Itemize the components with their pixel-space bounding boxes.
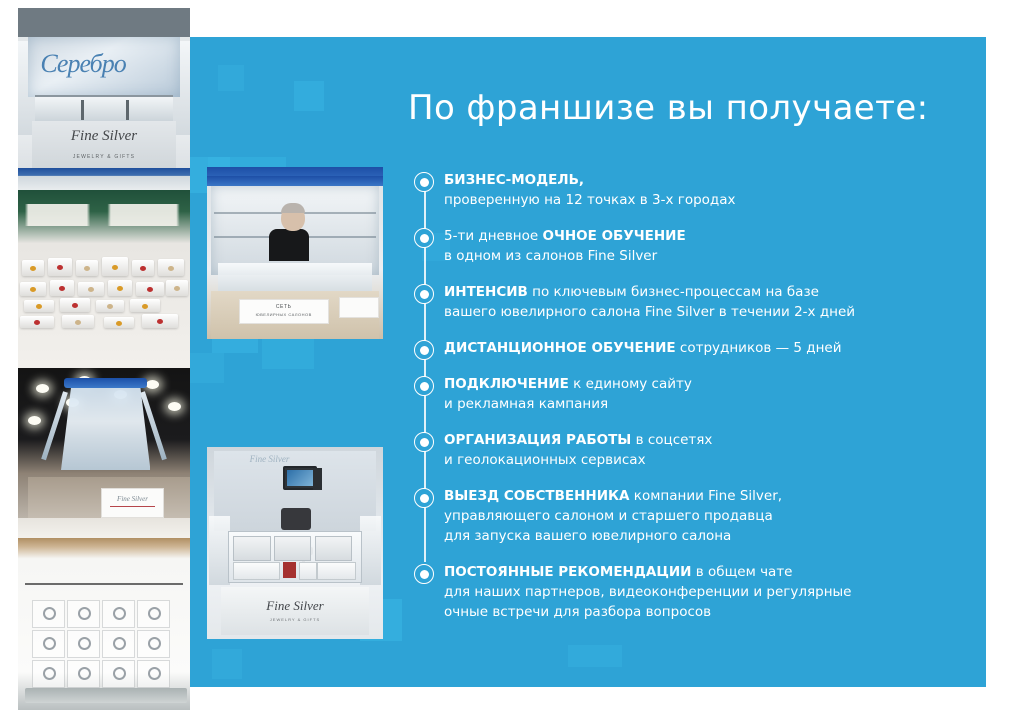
photo-ceiling-light (28, 416, 41, 425)
timeline-text-emphasis: БИЗНЕС-МОДЕЛЬ, (444, 172, 584, 188)
photo-ring-display-case (18, 538, 190, 710)
photo-jewelry-tray (104, 317, 134, 328)
photo-jewelry-trays (18, 190, 190, 368)
photo-gemstone (112, 265, 118, 270)
photo-foreground-tray (18, 518, 190, 538)
photo-chair-back (281, 508, 311, 530)
timeline-item-remote-training[interactable]: ДИСТАНЦИОННОЕ ОБУЧЕНИЕ сотрудников — 5 д… (408, 338, 953, 374)
decorative-square (190, 353, 224, 383)
photo-gemstone (57, 265, 63, 270)
photo-salesperson-hair (281, 203, 305, 213)
photo-ring (78, 607, 91, 620)
photo-jewelry-tray (166, 280, 188, 296)
photo-ring (78, 637, 91, 650)
timeline-marker-column (408, 282, 444, 338)
timeline-text-line: управляющего салоном и старшего продавца (444, 506, 953, 526)
timeline-text-plain: в соцсетях (631, 432, 712, 448)
timeline-marker-column (408, 430, 444, 486)
photo-gemstone (72, 303, 78, 308)
photo-banner: Серебро (28, 37, 179, 97)
photo-ring-cell (102, 600, 135, 628)
photo-side-case-left (209, 516, 230, 585)
photo-ring (148, 667, 161, 680)
decorative-square (218, 65, 244, 91)
photo-jewelry-tray (48, 258, 72, 276)
photo-ring-cell (137, 630, 170, 658)
photo-gemstone (84, 266, 90, 271)
timeline-bullet-icon (414, 172, 434, 192)
timeline-text-line: ВЫЕЗД СОБСТВЕННИКА компании Fine Silver, (444, 486, 953, 506)
timeline-item-text: ОРГАНИЗАЦИЯ РАБОТЫ в соцсетяхи геолокаци… (444, 430, 953, 486)
timeline-text-emphasis: ПОСТОЯННЫЕ РЕКОМЕНДАЦИИ (444, 564, 691, 580)
photo-ring (148, 607, 161, 620)
photo-jewelry-tray (50, 280, 74, 296)
timeline-text-plain: в общем чате (691, 564, 792, 580)
timeline-text-line: ОРГАНИЗАЦИЯ РАБОТЫ в соцсетях (444, 430, 953, 450)
timeline-text-line: для наших партнеров, видеоконференции и … (444, 582, 953, 602)
photo-staffed-kiosk: СЕТЬ ЮВЕЛИРНЫХ САЛОНОВ (207, 167, 383, 339)
timeline-bullet-icon (414, 228, 434, 248)
timeline-item-website-connection[interactable]: ПОДКЛЮЧЕНИЕ к единому сайтуи рекламная к… (408, 374, 953, 430)
timeline-bullet-icon (414, 432, 434, 452)
photo-storefront-serebro: Серебро Fine Silver JEWELRY & GIFTS (18, 8, 190, 190)
timeline-text-line: 5-ти дневное ОЧНОЕ ОБУЧЕНИЕ (444, 226, 953, 246)
sign-logo-text: Fine Silver (102, 495, 164, 503)
photo-display-tray (233, 562, 280, 580)
photo-gemstone (116, 321, 122, 326)
banner-text: Серебро (40, 49, 125, 79)
photo-gemstone (140, 266, 146, 271)
sign-line-1: СЕТЬ (240, 304, 328, 310)
photo-ring-cell (102, 660, 135, 688)
photo-ring (43, 667, 56, 680)
photo-ring-cell (32, 600, 65, 628)
photo-gemstone (174, 286, 180, 291)
base-tagline-text: JEWELRY & GIFTS (221, 617, 369, 622)
page-title: По франшизе вы получаете: (408, 88, 929, 128)
timeline-bullet-icon (414, 376, 434, 396)
photo-kiosk-blue-cap (64, 378, 147, 388)
timeline-item-text: БИЗНЕС-МОДЕЛЬ,проверенную на 12 точках в… (444, 170, 953, 226)
timeline-text-emphasis: ИНТЕНСИВ (444, 284, 528, 300)
photo-jewelry-tray (132, 260, 154, 276)
timeline-text-plain: в одном из салонов Fine Silver (444, 248, 657, 264)
timeline-bullet-icon (414, 564, 434, 584)
timeline-text-plain: для наших партнеров, видеоконференции и … (444, 584, 852, 600)
photo-jewelry-tray (24, 300, 54, 312)
left-photo-strip: Серебро Fine Silver JEWELRY & GIFTS Fine… (18, 8, 190, 710)
timeline-text-plain: к единому сайту (569, 376, 692, 392)
timeline-item-text: ИНТЕНСИВ по ключевым бизнес-процессам на… (444, 282, 953, 338)
timeline-marker-column (408, 226, 444, 282)
decorative-square (568, 645, 622, 667)
benefits-timeline-list: БИЗНЕС-МОДЕЛЬ,проверенную на 12 точках в… (408, 170, 953, 638)
timeline-text-line: и рекламная кампания (444, 394, 953, 414)
timeline-item-owner-visit[interactable]: ВЫЕЗД СОБСТВЕННИКА компании Fine Silver,… (408, 486, 953, 562)
photo-jewelry-tray (142, 314, 178, 328)
photo-display-panel (233, 536, 271, 561)
photo-gemstone (88, 287, 94, 292)
timeline-text-plain: компании Fine Silver, (630, 488, 783, 504)
photo-display-tray (317, 562, 356, 580)
photo-gemstone (157, 319, 163, 324)
photo-monitor (283, 466, 317, 490)
timeline-text-plain: для запуска вашего ювелирного салона (444, 528, 731, 544)
photo-jewelry-tray (96, 300, 124, 312)
photo-brand-logo: Fine Silver (18, 128, 190, 145)
photo-ring (148, 637, 161, 650)
photo-gemstone (147, 287, 153, 292)
timeline-text-emphasis: ВЫЕЗД СОБСТВЕННИКА (444, 488, 630, 504)
photo-gemstone (117, 286, 123, 291)
timeline-text-line: проверенную на 12 точках в 3-х городах (444, 190, 953, 210)
timeline-text-line: БИЗНЕС-МОДЕЛЬ, (444, 170, 953, 190)
photo-kiosk-sign: Fine Silver (101, 488, 165, 517)
photo-display-panel (315, 536, 353, 561)
timeline-text-emphasis: ОРГАНИЗАЦИЯ РАБОТЫ (444, 432, 631, 448)
photo-ceiling-lights (18, 204, 190, 225)
timeline-text-plain: и рекламная кампания (444, 396, 608, 412)
photo-gemstone (75, 320, 81, 325)
timeline-marker-column (408, 374, 444, 430)
photo-blue-header-strip (207, 176, 383, 186)
timeline-item-text: 5-ти дневное ОЧНОЕ ОБУЧЕНИЕв одном из са… (444, 226, 953, 282)
timeline-text-line: и геолокационных сервисах (444, 450, 953, 470)
photo-jewelry-tray (60, 298, 90, 312)
photo-salesperson-body (269, 229, 309, 261)
photo-ring (43, 607, 56, 620)
timeline-text-line: ИНТЕНСИВ по ключевым бизнес-процессам на… (444, 282, 953, 302)
photo-jewelry-tray (20, 316, 54, 328)
timeline-text-plain: очные встречи для разбора вопросов (444, 604, 711, 620)
timeline-text-plain: и геолокационных сервисах (444, 452, 646, 468)
timeline-text-plain: вашего ювелирного салона Fine Silver в т… (444, 304, 855, 320)
photo-gemstone (30, 287, 36, 292)
sign-line-2: ЮВЕЛИРНЫХ САЛОНОВ (240, 312, 328, 317)
timeline-marker-column (408, 562, 444, 638)
decorative-square (212, 649, 242, 679)
timeline-item-onsite-training[interactable]: 5-ти дневное ОЧНОЕ ОБУЧЕНИЕв одном из са… (408, 226, 953, 282)
photo-ring (113, 607, 126, 620)
photo-ring-cell (137, 660, 170, 688)
photo-red-box (283, 562, 296, 578)
photo-foreground-shelf (18, 168, 190, 190)
photo-display-panel (274, 536, 312, 561)
wall-logo-text: Fine Silver (250, 454, 290, 464)
photo-open-kiosk-workstation: Fine Silver Fine Silver JEWELRY & GIFTS (207, 447, 383, 639)
photo-ceiling-light (36, 384, 49, 393)
timeline-item-ongoing-recommendations[interactable]: ПОСТОЯННЫЕ РЕКОМЕНДАЦИИ в общем чатедля … (408, 562, 953, 638)
photo-jewelry-tray (20, 282, 46, 296)
timeline-item-text: ДИСТАНЦИОННОЕ ОБУЧЕНИЕ сотрудников — 5 д… (444, 338, 953, 374)
timeline-text-line: очные встречи для разбора вопросов (444, 602, 953, 622)
decorative-square (294, 81, 324, 111)
photo-jewelry-tray (22, 260, 44, 276)
photo-ring-cell (32, 660, 65, 688)
photo-ring-cell (102, 630, 135, 658)
photo-side-case-right (360, 516, 381, 585)
photo-gemstone (59, 286, 65, 291)
timeline-item-business-model[interactable]: БИЗНЕС-МОДЕЛЬ,проверенную на 12 точках в… (408, 170, 953, 226)
timeline-item-text: ВЫЕЗД СОБСТВЕННИКА компании Fine Silver,… (444, 486, 953, 562)
photo-ring-cell (67, 600, 100, 628)
timeline-item-social-media-setup[interactable]: ОРГАНИЗАЦИЯ РАБОТЫ в соцсетяхи геолокаци… (408, 430, 953, 486)
photo-ceiling-light (146, 380, 159, 389)
timeline-item-intensive[interactable]: ИНТЕНСИВ по ключевым бизнес-процессам на… (408, 282, 953, 338)
timeline-text-line: в одном из салонов Fine Silver (444, 246, 953, 266)
photo-jewelry-tray (78, 282, 104, 296)
photo-case-lip (25, 688, 187, 703)
photo-counter-base: Fine Silver JEWELRY & GIFTS (221, 587, 369, 635)
photo-secondary-sign (339, 297, 380, 318)
photo-jewelry-tray (136, 282, 164, 296)
photo-gemstone (36, 304, 42, 309)
photo-jewelry-tray (158, 259, 184, 276)
timeline-item-text: ПОСТОЯННЫЕ РЕКОМЕНДАЦИИ в общем чатедля … (444, 562, 953, 638)
photo-kiosk-glass (61, 382, 150, 470)
photo-ring-cell (137, 600, 170, 628)
photo-ring (43, 637, 56, 650)
photo-pc-tower (313, 468, 322, 490)
photo-jewelry-tray (62, 315, 94, 328)
photo-ring (113, 667, 126, 680)
photo-jewelry-tray (130, 299, 160, 312)
photo-mall-kiosk-night: Fine Silver (18, 368, 190, 538)
photo-gemstone (142, 304, 148, 309)
timeline-item-text: ПОДКЛЮЧЕНИЕ к единому сайтуи рекламная к… (444, 374, 953, 430)
timeline-text-line: вашего ювелирного салона Fine Silver в т… (444, 302, 953, 322)
timeline-text-plain: 5-ти дневное (444, 228, 543, 244)
base-logo-text: Fine Silver (221, 598, 369, 614)
timeline-text-plain: по ключевым бизнес-процессам на базе (528, 284, 819, 300)
photo-ring (78, 667, 91, 680)
photo-main-display-case (228, 531, 362, 583)
timeline-text-emphasis: ПОДКЛЮЧЕНИЕ (444, 376, 569, 392)
sign-rule (110, 506, 155, 507)
photo-jewelry-tray (102, 257, 128, 276)
photo-gemstone (107, 304, 113, 309)
photo-jewelry-tray (76, 260, 98, 276)
timeline-text-plain: управляющего салоном и старшего продавца (444, 508, 773, 524)
timeline-bullet-icon (414, 488, 434, 508)
photo-brand-tagline: JEWELRY & GIFTS (18, 154, 190, 160)
timeline-text-line: ДИСТАНЦИОННОЕ ОБУЧЕНИЕ сотрудников — 5 д… (444, 338, 953, 358)
timeline-text-line: ПОДКЛЮЧЕНИЕ к единому сайту (444, 374, 953, 394)
photo-gemstone (168, 266, 174, 271)
photo-jewelry-tray (108, 280, 132, 296)
timeline-marker-column (408, 486, 444, 562)
timeline-text-emphasis: ОЧНОЕ ОБУЧЕНИЕ (543, 228, 686, 244)
photo-gemstone (30, 266, 36, 271)
photo-ceiling-light (168, 402, 181, 411)
photo-ring-cell (32, 630, 65, 658)
photo-monitor-screen (287, 470, 313, 486)
timeline-text-line: ПОСТОЯННЫЕ РЕКОМЕНДАЦИИ в общем чате (444, 562, 953, 582)
timeline-marker-column (408, 170, 444, 226)
photo-kiosk-sign: СЕТЬ ЮВЕЛИРНЫХ САЛОНОВ (239, 299, 329, 323)
timeline-text-emphasis: ДИСТАНЦИОННОЕ ОБУЧЕНИЕ (444, 340, 676, 356)
photo-ring (113, 637, 126, 650)
photo-divider-rule (25, 583, 183, 585)
photo-ring-cell (67, 660, 100, 688)
photo-gemstone (34, 320, 40, 325)
timeline-bullet-icon (414, 340, 434, 360)
photo-ring-cell (67, 630, 100, 658)
timeline-bullet-icon (414, 284, 434, 304)
timeline-text-plain: сотрудников — 5 дней (676, 340, 842, 356)
photo-display-tray (299, 562, 317, 580)
timeline-text-plain: проверенную на 12 точках в 3-х городах (444, 192, 736, 208)
timeline-marker-column (408, 338, 444, 374)
timeline-text-line: для запуска вашего ювелирного салона (444, 526, 953, 546)
